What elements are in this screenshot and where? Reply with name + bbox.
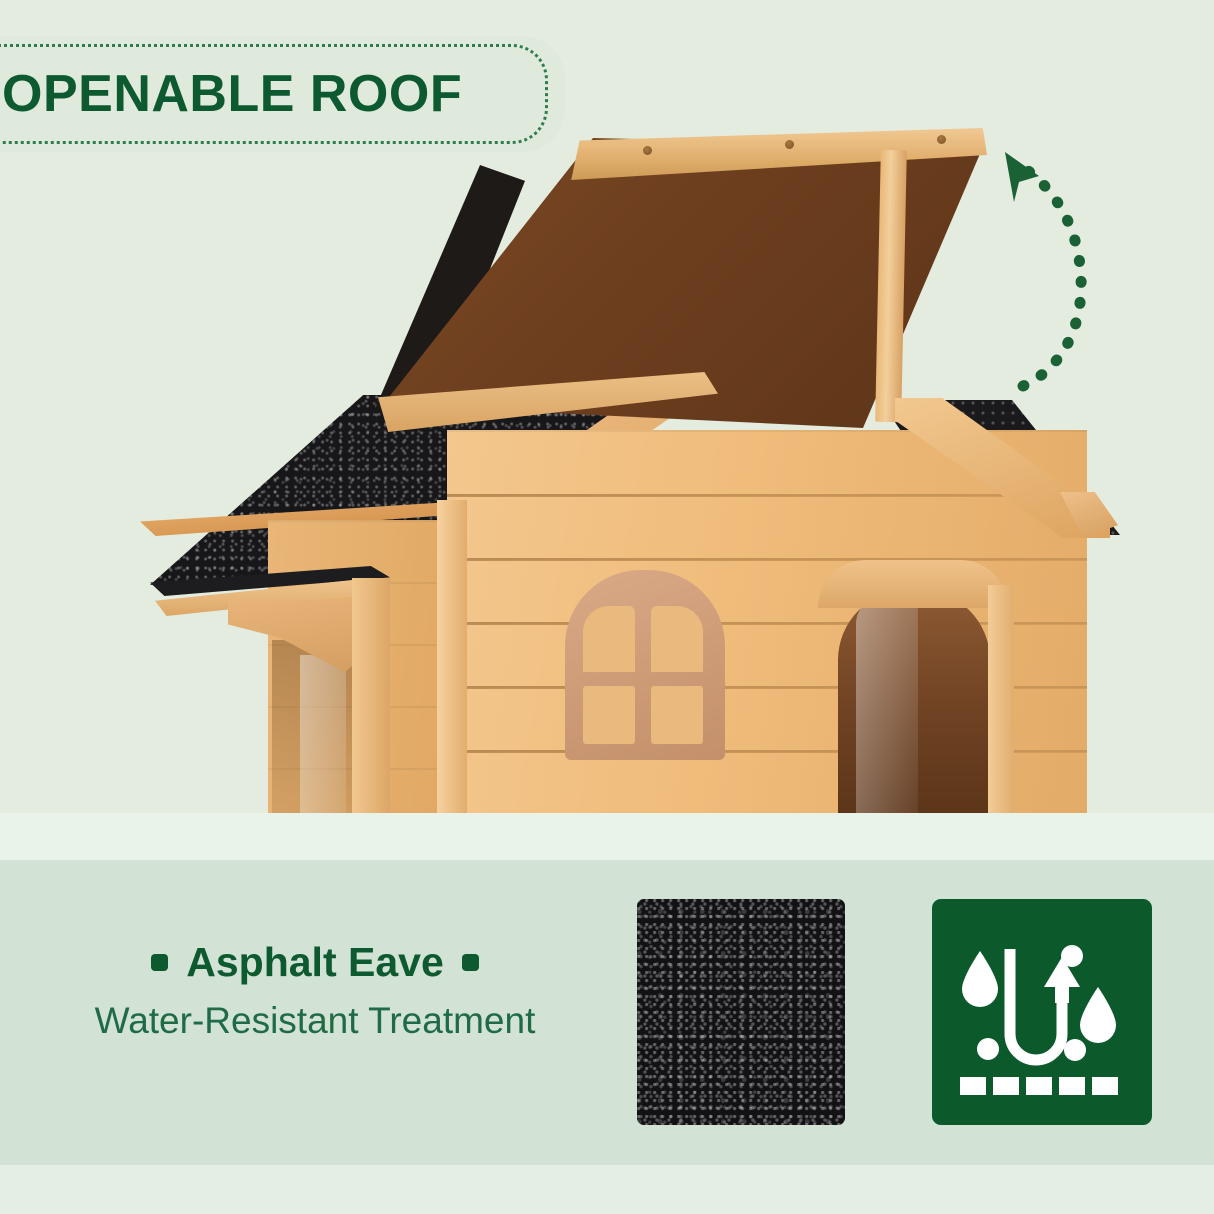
dog-door-right-frame <box>988 585 1014 813</box>
screw-icon <box>785 140 794 149</box>
divider-band <box>0 813 1214 860</box>
porch-post <box>352 578 390 813</box>
house-corner-post <box>437 500 467 813</box>
feature-badge: OPENABLE ROOF <box>0 36 565 152</box>
decorative-arched-window <box>565 570 725 760</box>
window-pane-bottom-right <box>651 686 703 744</box>
bullet-square-left-icon <box>151 954 168 971</box>
water-resistant-icon <box>932 899 1152 1125</box>
porch-plastic-flap <box>300 655 346 813</box>
screw-icon <box>643 146 652 155</box>
feature-subtitle: Water-Resistant Treatment <box>0 1001 630 1042</box>
siding-plank-seam <box>447 558 1087 561</box>
roof-support-post <box>875 150 907 422</box>
window-pane-top-right <box>651 606 703 672</box>
water-resistant-icon-tile <box>932 899 1152 1125</box>
feature-text-block: Asphalt Eave Water-Resistant Treatment <box>0 940 630 1042</box>
feature-title: Asphalt Eave <box>186 940 444 985</box>
dog-door-plastic-flap <box>856 596 918 813</box>
footer-background-band <box>0 1165 1214 1214</box>
siding-plank-seam <box>447 494 1087 497</box>
window-pane-top-left <box>583 606 635 672</box>
rotation-arrow-dotted-icon <box>975 140 1115 410</box>
screw-icon <box>937 135 946 144</box>
asphalt-texture-swatch <box>637 899 845 1125</box>
bullet-square-right-icon <box>462 954 479 971</box>
feature-title-row: Asphalt Eave <box>0 940 630 985</box>
dog-door-arch-trim <box>818 560 1008 608</box>
infographic-canvas: OPENABLE ROOF Asphalt Eave Water-Resista… <box>0 0 1214 1214</box>
badge-title: OPENABLE ROOF <box>2 64 462 124</box>
window-pane-bottom-left <box>583 686 635 744</box>
